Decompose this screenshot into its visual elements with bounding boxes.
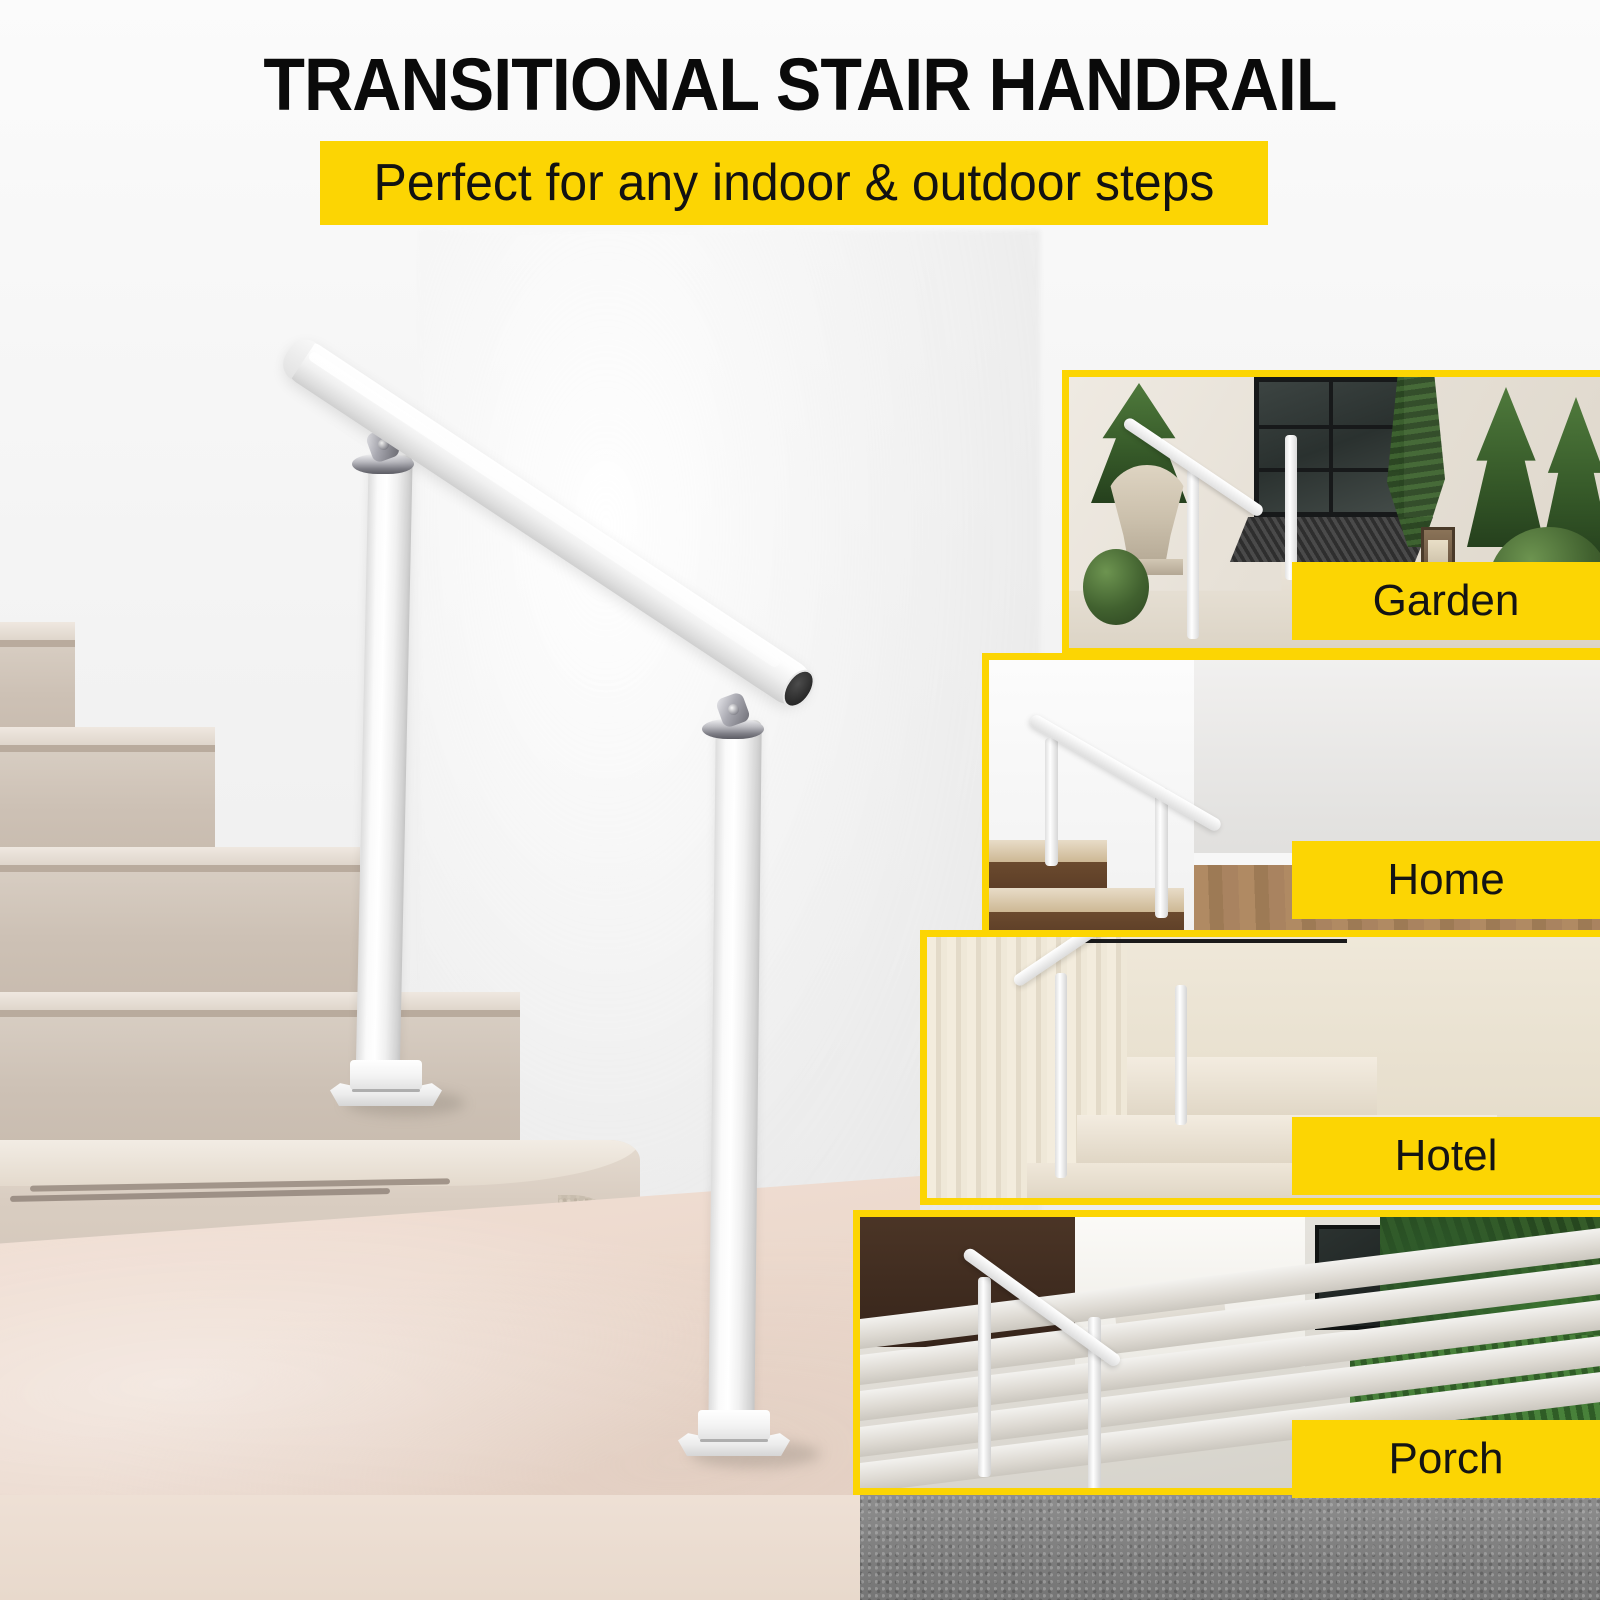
hotel-handrail-post bbox=[1055, 973, 1067, 1178]
flange-seam bbox=[352, 1089, 420, 1092]
wall-trim-line bbox=[1077, 939, 1347, 943]
label-text: Home bbox=[1387, 855, 1504, 905]
swivel-bolt bbox=[728, 704, 739, 715]
handrail-open-end bbox=[776, 664, 821, 713]
label-text: Garden bbox=[1373, 576, 1520, 626]
label-text: Hotel bbox=[1395, 1131, 1498, 1181]
flange-collar bbox=[350, 1060, 422, 1090]
page-title: TRANSITIONAL STAIR HANDRAIL bbox=[64, 42, 1536, 127]
flange-collar bbox=[698, 1410, 770, 1440]
home-handrail-post bbox=[1045, 738, 1058, 866]
handrail-base-flange-upper bbox=[330, 1050, 442, 1106]
use-case-label-garden: Garden bbox=[1292, 562, 1600, 640]
handrail-post-lower bbox=[708, 720, 762, 1440]
use-case-label-home: Home bbox=[1292, 841, 1600, 919]
home-handrail-post bbox=[1155, 788, 1168, 918]
label-text: Porch bbox=[1389, 1434, 1504, 1484]
evergreen-tree bbox=[1467, 387, 1545, 547]
product-marketing-image: TRANSITIONAL STAIR HANDRAIL Perfect for … bbox=[0, 0, 1600, 1600]
boxwood-shrub bbox=[1083, 549, 1149, 625]
handrail-swivel-fitting-lower bbox=[702, 685, 764, 739]
door-mullion bbox=[1259, 468, 1399, 472]
use-case-label-porch: Porch bbox=[1292, 1420, 1600, 1498]
handrail-post-upper bbox=[355, 455, 412, 1096]
subtitle-banner: Perfect for any indoor & outdoor steps bbox=[320, 141, 1268, 225]
subtitle-text: Perfect for any indoor & outdoor steps bbox=[374, 153, 1215, 213]
garden-handrail-post bbox=[1285, 435, 1297, 580]
handrail-base-flange-lower bbox=[678, 1400, 790, 1456]
handrail-tube bbox=[278, 334, 819, 713]
hotel-handrail-post bbox=[1175, 985, 1187, 1125]
door-mullion bbox=[1329, 382, 1333, 512]
flange-seam bbox=[700, 1439, 768, 1442]
door-mullion bbox=[1259, 425, 1399, 429]
glass-door-icon bbox=[1254, 377, 1404, 517]
garden-handrail-post bbox=[1187, 469, 1199, 639]
use-case-label-hotel: Hotel bbox=[1292, 1117, 1600, 1195]
porch-handrail-post bbox=[978, 1277, 991, 1477]
floor-foreground bbox=[0, 1495, 860, 1600]
